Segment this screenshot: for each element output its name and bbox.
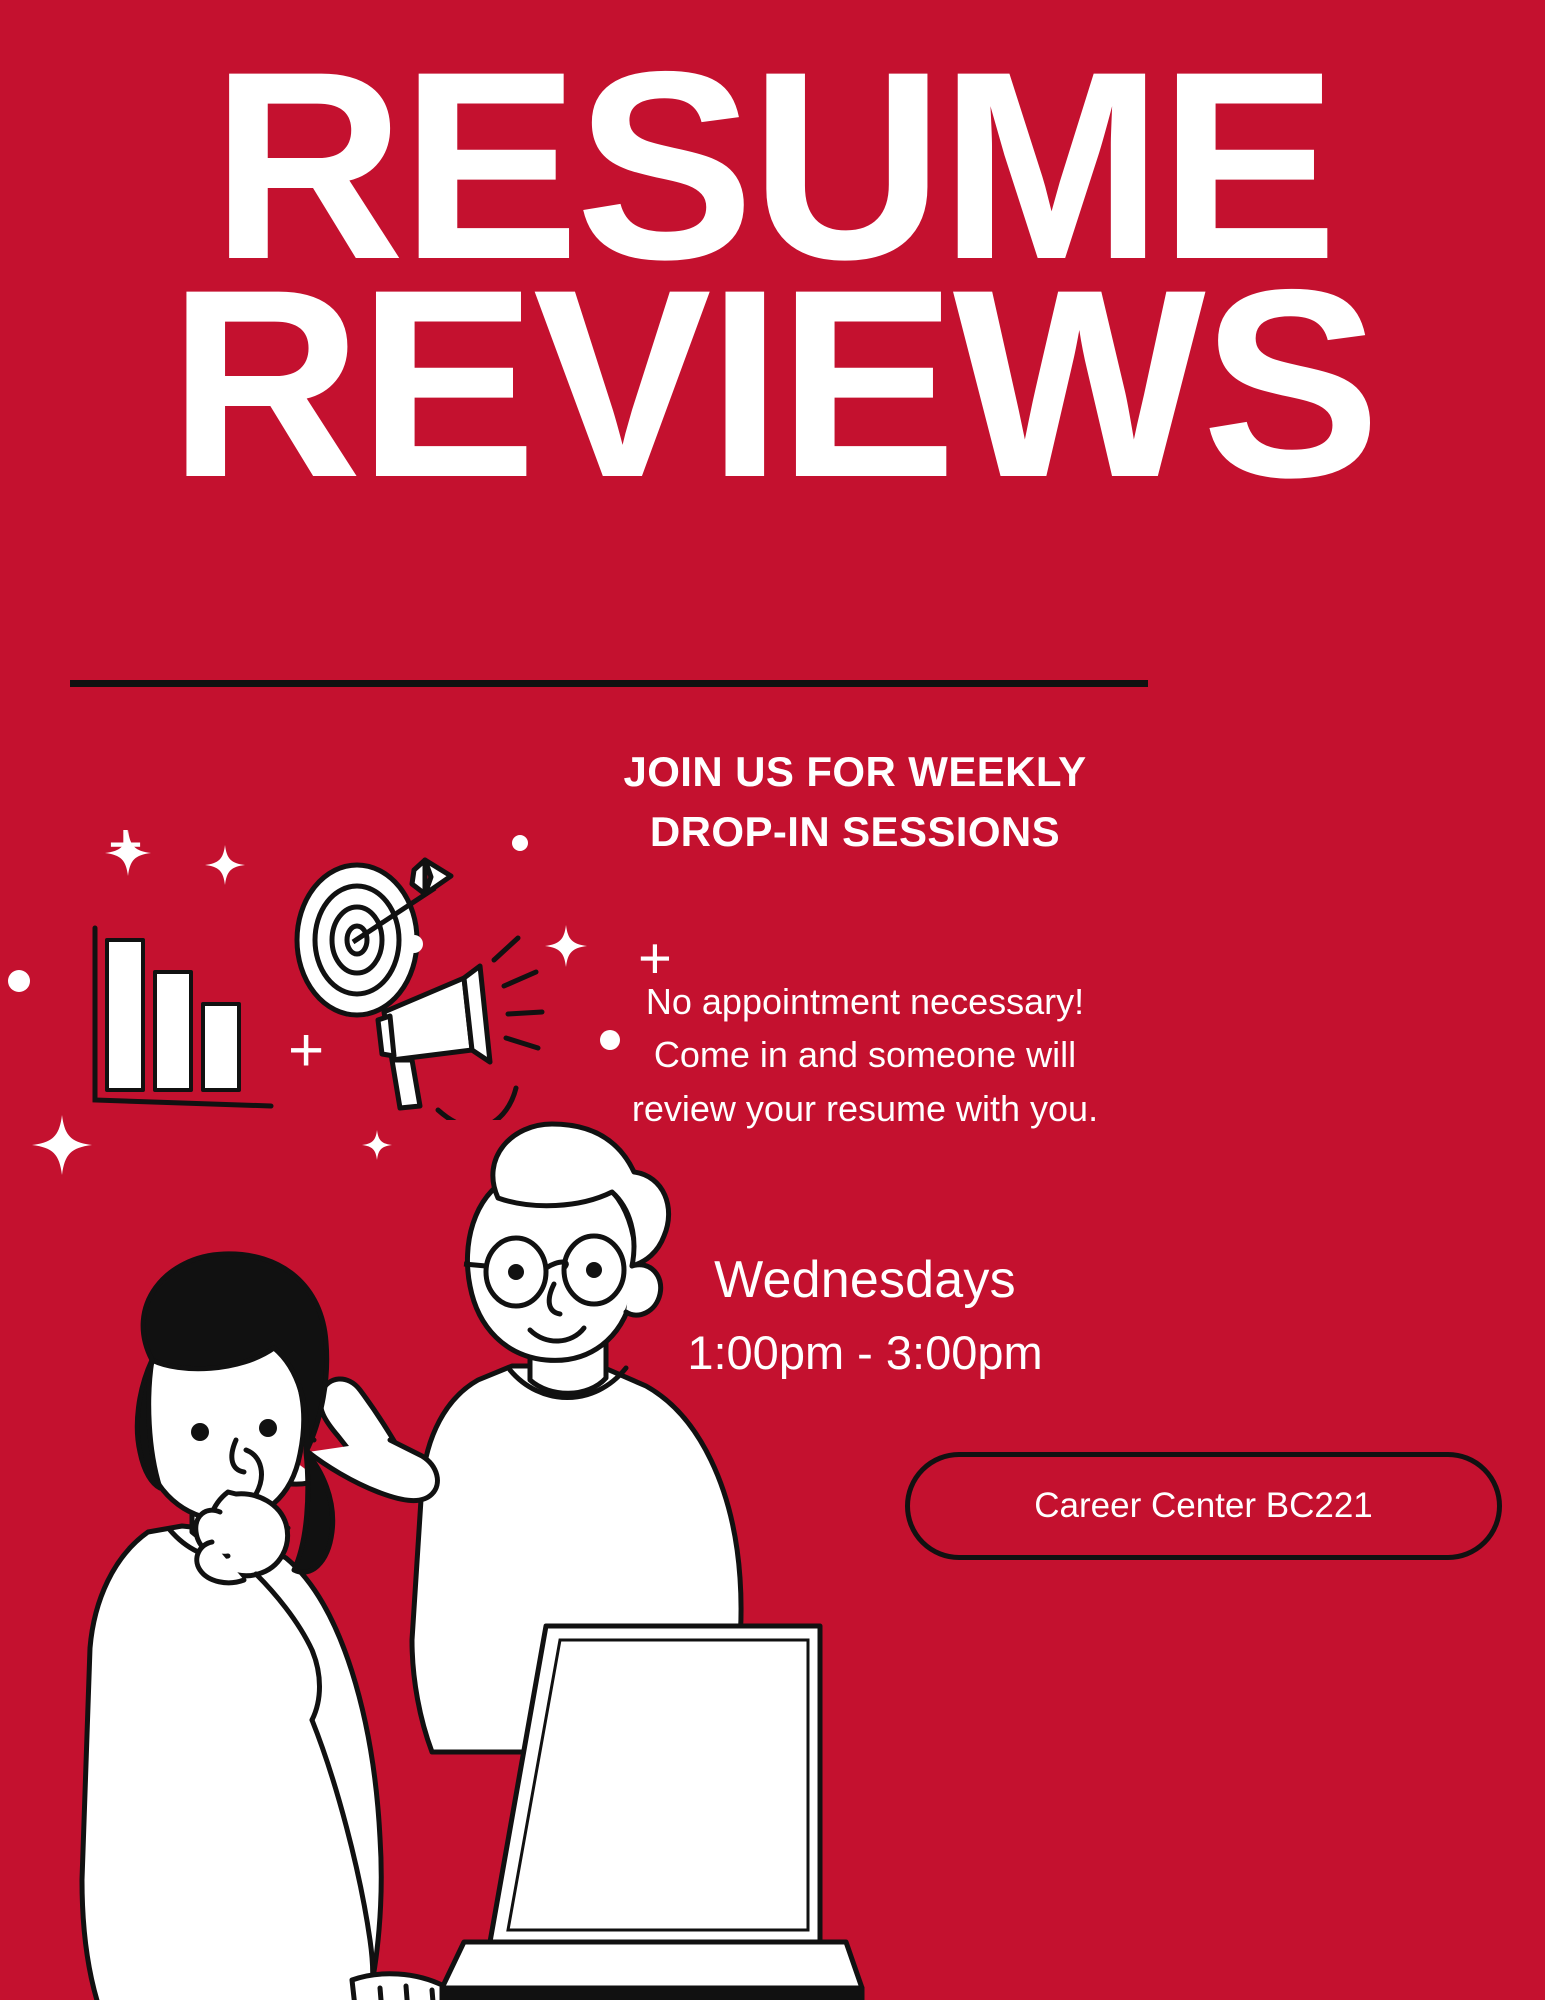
eye-icon xyxy=(259,1419,277,1437)
laptop-screen-edge xyxy=(508,1640,808,1930)
eye-icon xyxy=(586,1262,602,1278)
poster-canvas: RESUME REVIEWS JOIN US FOR WEEKLY DROP-I… xyxy=(0,0,1545,2000)
page-title: RESUME REVIEWS xyxy=(0,48,1545,502)
dot-icon xyxy=(512,835,528,851)
eye-icon xyxy=(191,1423,209,1441)
title-line-1: RESUME xyxy=(0,48,1545,284)
subheading-line-1: JOIN US FOR WEEKLY xyxy=(560,742,1150,802)
sparkle-icon xyxy=(545,925,587,967)
plus-icon: + xyxy=(288,1020,324,1082)
person-thinking-icon xyxy=(82,1254,381,2000)
sparkle-icon xyxy=(205,845,245,885)
plus-icon: + xyxy=(638,930,672,988)
title-divider-rule xyxy=(70,680,1148,687)
illustration-group: + + + xyxy=(0,1020,1000,2000)
eye-icon xyxy=(508,1264,524,1280)
plus-icon: + xyxy=(108,815,143,875)
dot-icon xyxy=(600,1030,620,1050)
dot-icon xyxy=(405,935,423,953)
subheading: JOIN US FOR WEEKLY DROP-IN SESSIONS xyxy=(560,742,1150,861)
people-scene xyxy=(60,1080,890,2000)
dot-icon xyxy=(8,970,30,992)
location-button-label: Career Center BC221 xyxy=(1034,1486,1373,1526)
subheading-line-2: DROP-IN SESSIONS xyxy=(560,802,1150,862)
